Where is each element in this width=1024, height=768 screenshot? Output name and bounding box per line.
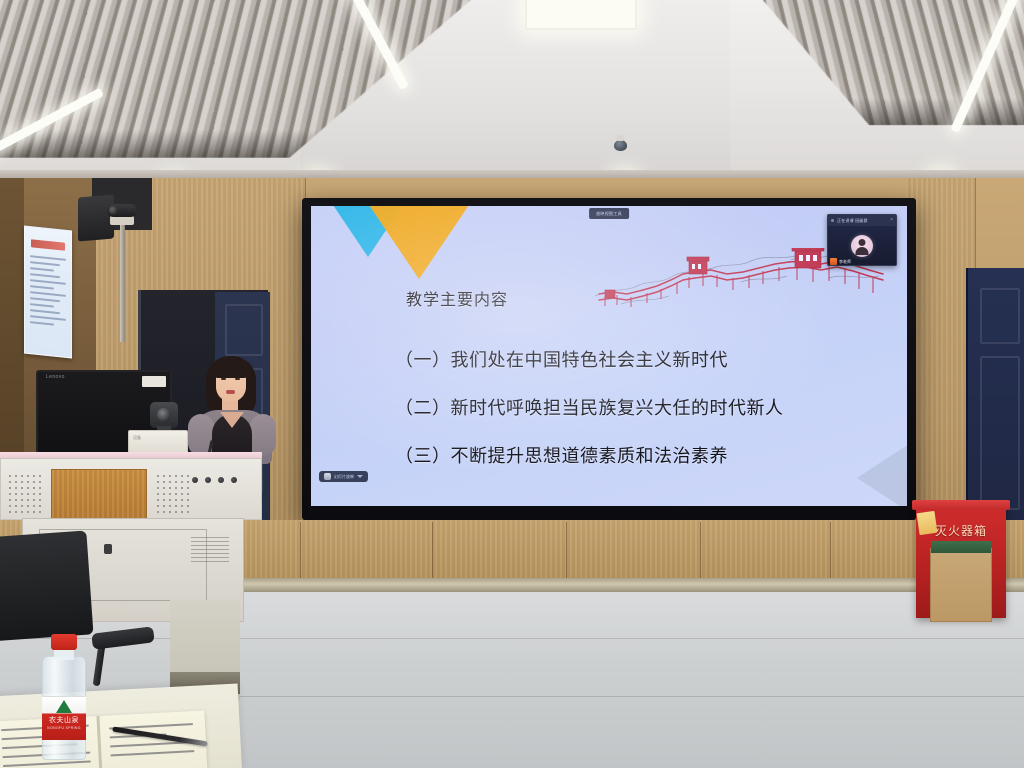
bottle-label: 农夫山泉 NONGFU SPRING bbox=[42, 696, 86, 740]
notebook-spine bbox=[96, 716, 102, 768]
slide-bullet-3: （三）不断提升思想道德素质和法治素养 bbox=[395, 442, 784, 468]
control-button[interactable] bbox=[231, 477, 237, 483]
microphone-icon[interactable] bbox=[830, 258, 837, 265]
bottle-cap[interactable] bbox=[51, 634, 77, 650]
display-screen[interactable]: 教学主要内容 （一）我们处在中国特色社会主义新时代 （二）新时代呼唤担当民族复兴… bbox=[311, 206, 907, 506]
monitor-brand-label: Lenovo bbox=[46, 374, 65, 380]
slat-shadow bbox=[754, 98, 1024, 125]
camera-mount bbox=[110, 216, 134, 225]
speaker-grille-left bbox=[7, 473, 43, 517]
lectern-wood-inlay bbox=[51, 469, 147, 525]
video-panel-body: 李老师 bbox=[828, 226, 896, 266]
brand-mountain-icon bbox=[56, 700, 72, 713]
ptz-camera-icon[interactable] bbox=[150, 402, 178, 428]
cabinet-seam bbox=[300, 522, 301, 584]
wall-speaker bbox=[78, 194, 114, 241]
monitor-sticker bbox=[142, 376, 166, 387]
slideshow-icon bbox=[324, 473, 331, 480]
poster-title-bar bbox=[31, 239, 65, 251]
ventilation-grille bbox=[191, 537, 229, 565]
security-camera-icon bbox=[107, 204, 137, 217]
slide-corner-triangle-icon bbox=[857, 444, 907, 506]
video-panel-title: 正在讲课 班级群 bbox=[837, 215, 868, 226]
cabinet-seam bbox=[700, 522, 701, 584]
slideshow-chip-label: 幻灯片放映 bbox=[334, 473, 354, 480]
hair-front bbox=[212, 358, 250, 378]
fire-cabinet-label: 灭火器箱 bbox=[922, 522, 1000, 539]
camera-pole bbox=[120, 222, 125, 342]
sleeve-right bbox=[250, 414, 276, 456]
avatar bbox=[851, 235, 873, 257]
bottle-brand-subtitle: NONGFU SPRING bbox=[42, 726, 86, 731]
classroom-photo-scene: 教学主要内容 （一）我们处在中国特色社会主义新时代 （二）新时代呼唤担当民族复兴… bbox=[0, 0, 1024, 768]
lectern-front-panel bbox=[0, 458, 262, 520]
ceiling bbox=[0, 0, 1024, 182]
cabinet-seam bbox=[830, 522, 831, 584]
control-button[interactable] bbox=[218, 477, 224, 483]
lock-icon[interactable] bbox=[104, 544, 112, 554]
video-panel-header: 正在讲课 班级群 × bbox=[828, 215, 896, 226]
device-box-label: 设备 bbox=[133, 435, 141, 441]
avatar-body-icon bbox=[856, 247, 869, 255]
cabinet-top bbox=[912, 500, 1010, 510]
slideshow-status-chip[interactable]: 幻灯片放映 bbox=[319, 471, 368, 482]
chevron-down-icon[interactable] bbox=[357, 475, 363, 478]
control-button[interactable] bbox=[205, 477, 211, 483]
eye-left bbox=[221, 378, 226, 380]
office-chair-back[interactable] bbox=[0, 530, 94, 641]
slide-triangle-amber-icon bbox=[369, 206, 469, 279]
avatar-head-icon bbox=[859, 239, 866, 246]
slideshow-toolbar[interactable]: 放映视图工具 bbox=[589, 208, 629, 219]
lips bbox=[226, 390, 235, 394]
close-icon[interactable]: × bbox=[890, 215, 893, 226]
poster-text-lines bbox=[30, 255, 66, 331]
cardboard-box bbox=[930, 548, 992, 622]
video-conference-panel[interactable]: 正在讲课 班级群 × 李老师 bbox=[827, 214, 897, 266]
box-tape bbox=[931, 541, 991, 553]
control-button[interactable] bbox=[192, 477, 198, 483]
wall-display[interactable]: 教学主要内容 （一）我们处在中国特色社会主义新时代 （二）新时代呼唤担当民族复兴… bbox=[302, 198, 916, 520]
cabinet-seam bbox=[432, 522, 433, 584]
ceiling-sensor-icon bbox=[614, 140, 627, 151]
participant-badge: 李老师 bbox=[830, 258, 851, 265]
water-bottle[interactable]: 农夫山泉 NONGFU SPRING bbox=[42, 638, 86, 760]
wall-notice-poster bbox=[24, 225, 72, 358]
eye-right bbox=[235, 378, 240, 380]
slide-bullet-list: （一）我们处在中国特色社会主义新时代 （二）新时代呼唤担当民族复兴大任的时代新人… bbox=[395, 346, 784, 490]
ceiling-light-panel bbox=[525, 0, 637, 30]
slide-bullet-1: （一）我们处在中国特色社会主义新时代 bbox=[395, 346, 784, 372]
participant-name: 李老师 bbox=[839, 258, 851, 265]
slide-heading: 教学主要内容 bbox=[406, 286, 508, 310]
lectern-control-panel[interactable] bbox=[187, 471, 257, 489]
slide-bullet-2: （二）新时代呼唤担当民族复兴大任的时代新人 bbox=[395, 394, 784, 420]
status-dot-icon bbox=[831, 219, 834, 222]
cabinet-seam bbox=[566, 522, 567, 584]
bottle-brand-name: 农夫山泉 bbox=[42, 716, 86, 725]
presenter bbox=[186, 352, 278, 462]
speaker-grille-right bbox=[155, 473, 191, 517]
